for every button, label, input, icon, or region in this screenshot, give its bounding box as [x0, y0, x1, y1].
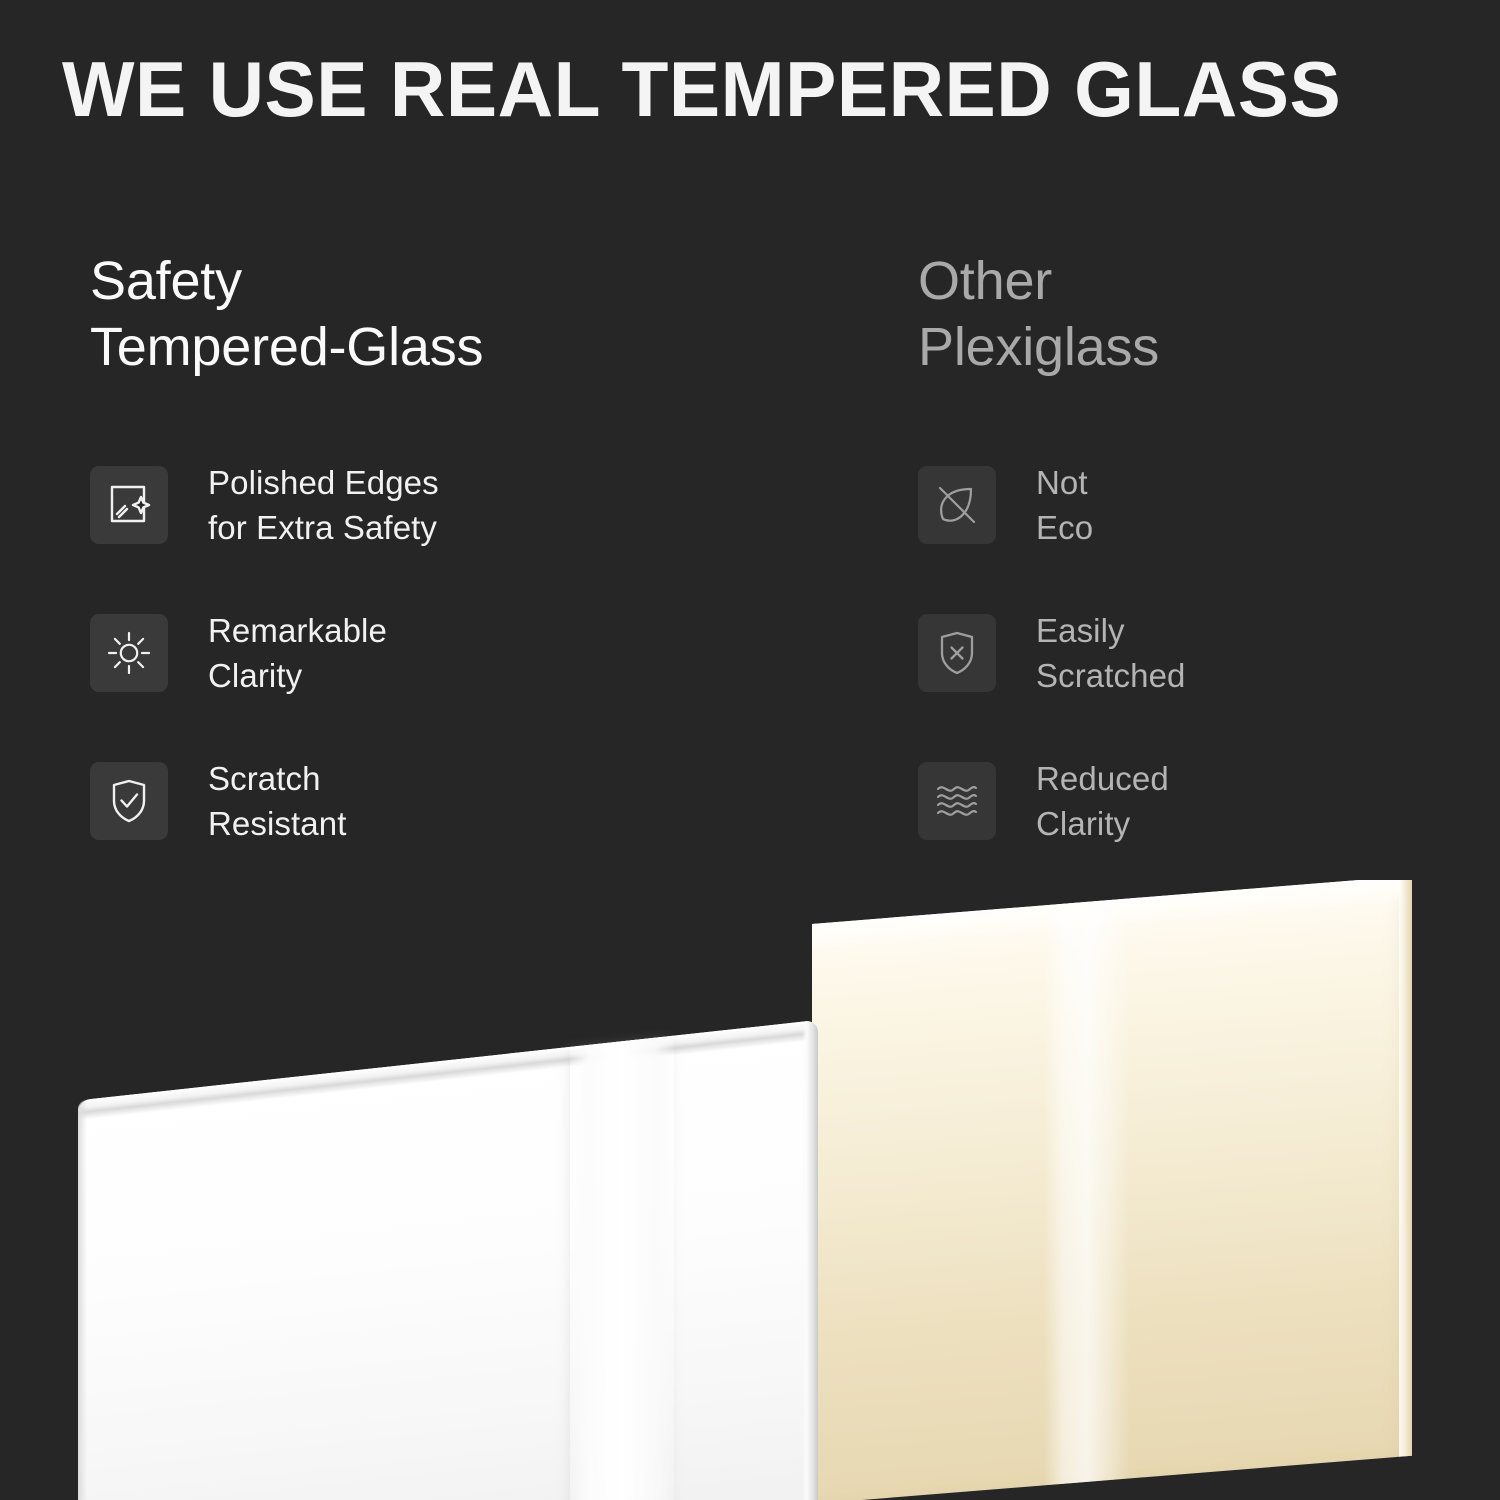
tempered-glass-sheet — [78, 1020, 818, 1500]
comparison-column-plexiglass: Other Plexiglass Not Eco — [918, 248, 1478, 380]
feature-label-polished-edges: Polished Edges for Extra Safety — [208, 460, 439, 550]
tempered-glass-polished-edge — [802, 1020, 818, 1500]
tempered-glass-top-bevel — [78, 1020, 818, 1120]
column-title-plexiglass: Other Plexiglass — [918, 248, 1478, 380]
feature-label-reduced-clarity: Reduced Clarity — [1036, 756, 1169, 846]
shield-x-icon — [918, 614, 996, 692]
promo-graphic: WE USE REAL TEMPERED GLASS Safety Temper… — [0, 0, 1500, 1500]
page-title: WE USE REAL TEMPERED GLASS — [62, 42, 1431, 136]
feature-list-plexiglass: Not Eco Easily Scratched — [918, 466, 1478, 840]
shield-check-icon — [90, 762, 168, 840]
wavy-lines-icon — [918, 762, 996, 840]
polished-glass-sparkle-icon — [90, 466, 168, 544]
feature-label-remarkable-clarity: Remarkable Clarity — [208, 608, 387, 698]
feature-label-scratch-resistant: Scratch Resistant — [208, 756, 346, 846]
product-comparison-image — [0, 880, 1500, 1500]
feature-label-easily-scratched: Easily Scratched — [1036, 608, 1185, 698]
feature-row-polished-edges: Polished Edges for Extra Safety — [90, 466, 850, 544]
feature-row-not-eco: Not Eco — [918, 466, 1478, 544]
comparison-column-tempered-glass: Safety Tempered-Glass Polished Edges for… — [90, 248, 850, 380]
feature-row-easily-scratched: Easily Scratched — [918, 614, 1478, 692]
tempered-glass-left-edge — [78, 1099, 87, 1500]
tempered-glass-reflection-highlight — [570, 1036, 674, 1500]
yellowed-plexiglass-sheet — [812, 880, 1412, 1500]
feature-label-not-eco: Not Eco — [1036, 460, 1093, 550]
feature-row-remarkable-clarity: Remarkable Clarity — [90, 614, 850, 692]
plexiglass-reflection-highlight — [1044, 898, 1130, 1485]
feature-row-reduced-clarity: Reduced Clarity — [918, 762, 1478, 840]
column-title-tempered-glass: Safety Tempered-Glass — [90, 248, 850, 380]
plexiglass-side-edge — [1399, 880, 1412, 1457]
leaf-off-icon — [918, 466, 996, 544]
sun-brightness-icon — [90, 614, 168, 692]
feature-list-tempered-glass: Polished Edges for Extra Safety Remarkab… — [90, 466, 850, 840]
feature-row-scratch-resistant: Scratch Resistant — [90, 762, 850, 840]
